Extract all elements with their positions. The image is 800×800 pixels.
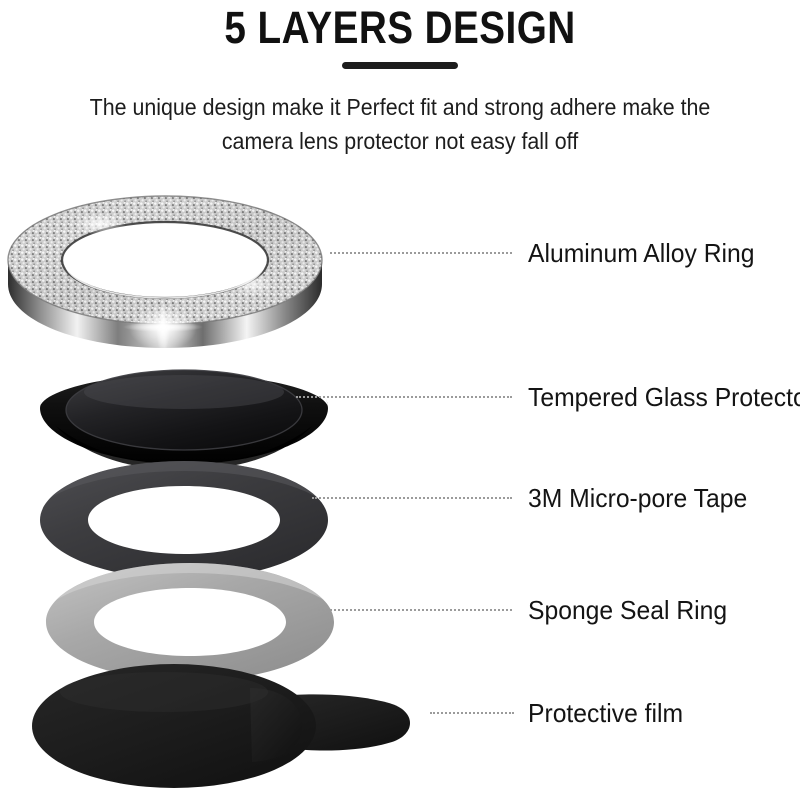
leader-line-3m-micro-pore-tape: [312, 497, 512, 499]
leader-line-tempered-glass-protector: [296, 396, 512, 398]
layer-label-sponge-seal-ring: Sponge Seal Ring: [528, 595, 727, 625]
leader-line-sponge-seal-ring: [318, 609, 512, 611]
layer-art-protective-film: [24, 648, 424, 800]
layer-label-3m-micro-pore-tape: 3M Micro-pore Tape: [528, 483, 747, 513]
leader-line-aluminum-alloy-ring: [330, 252, 512, 254]
layer-label-aluminum-alloy-ring: Aluminum Alloy Ring: [528, 238, 755, 268]
layer-label-protective-film: Protective film: [528, 698, 683, 728]
layer-art-aluminum-alloy-ring: [0, 188, 330, 368]
leader-line-protective-film: [430, 712, 514, 714]
infographic-page: 5 LAYERS DESIGN The unique design make i…: [0, 0, 800, 800]
layer-label-tempered-glass-protector: Tempered Glass Protector: [528, 382, 800, 412]
